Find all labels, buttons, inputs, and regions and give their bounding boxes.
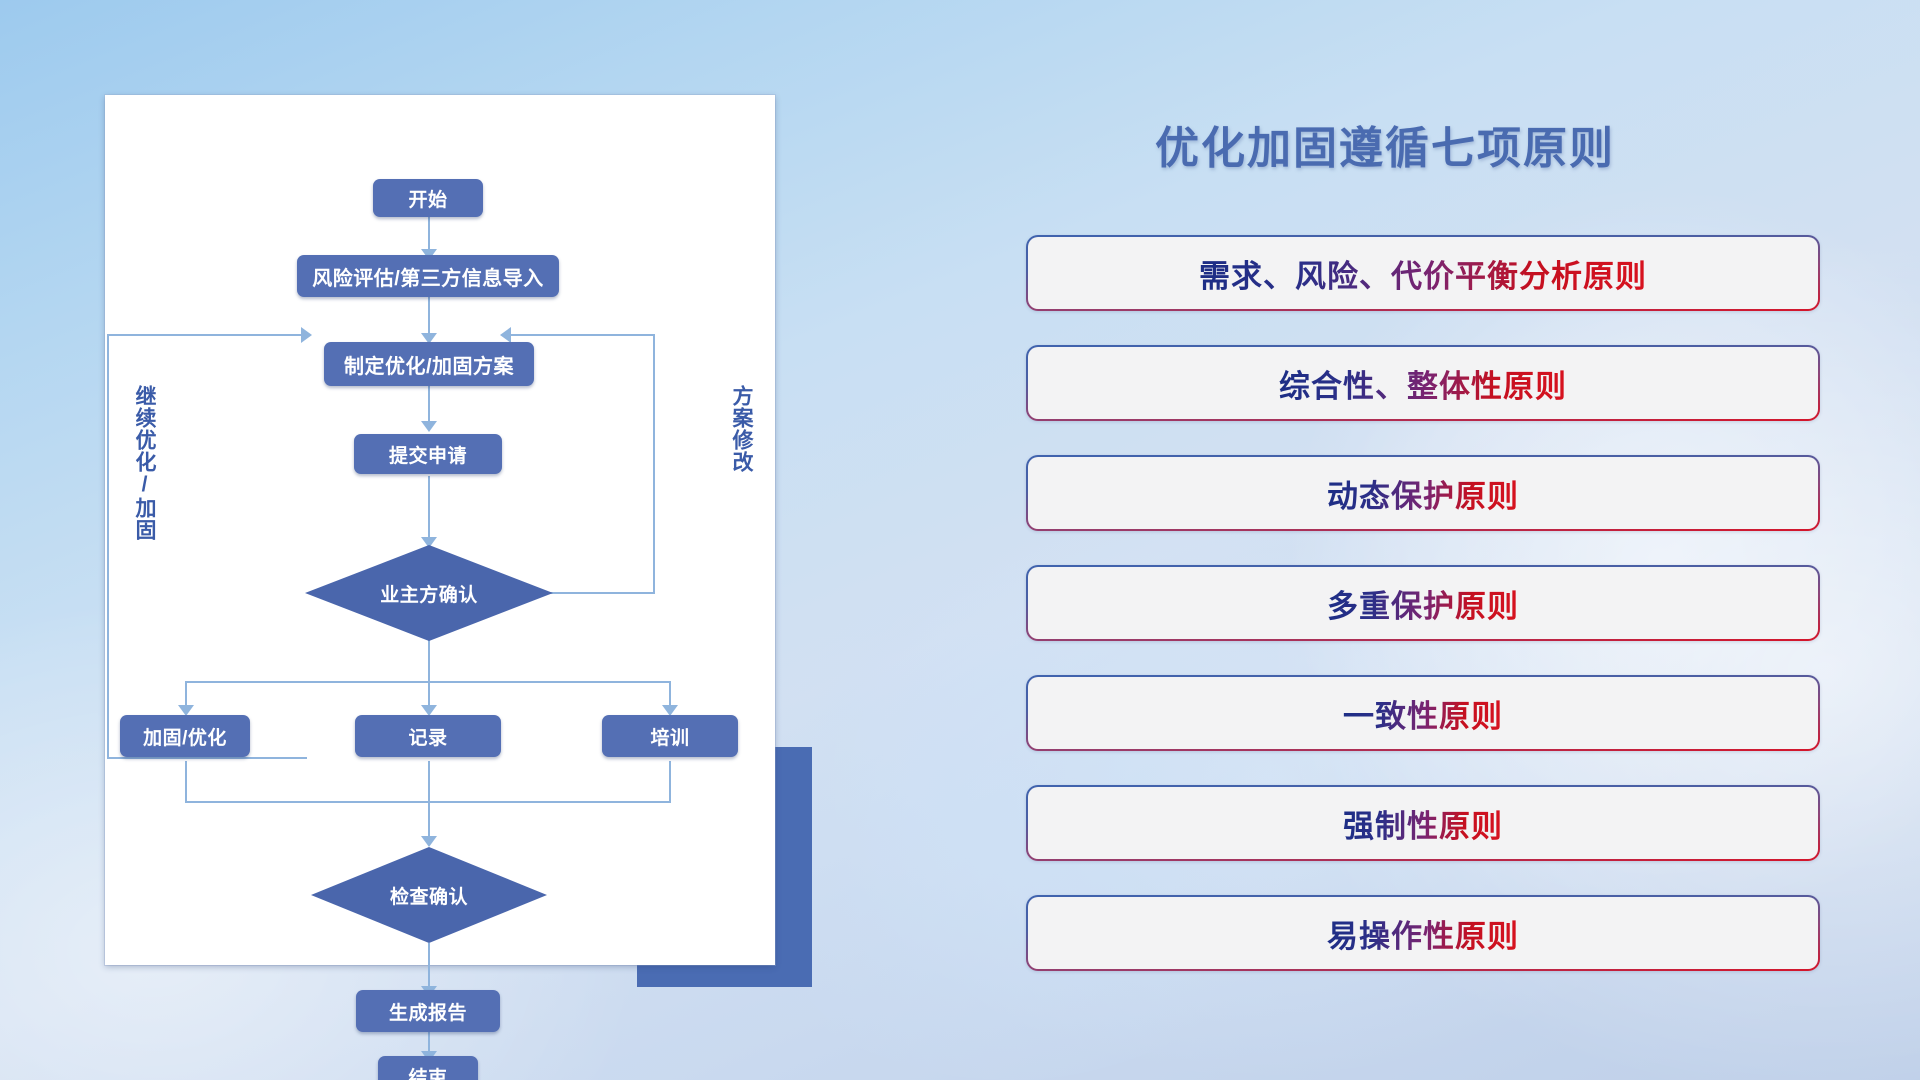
flow-node-make-plan[interactable]: 制定优化/加固方案 bbox=[324, 342, 534, 386]
principle-label: 动态保护原则 bbox=[1327, 471, 1519, 516]
connector-left-loop-bottom bbox=[107, 757, 307, 759]
slide-canvas: 开始 风险评估/第三方信息导入 制定优化/加固方案 提交申请 业主方确认 加固/… bbox=[0, 0, 1920, 1080]
flow-node-record-label: 记录 bbox=[408, 723, 447, 750]
flow-node-risk-assessment-label: 风险评估/第三方信息导入 bbox=[312, 262, 544, 291]
principle-card[interactable]: 动态保护原则 bbox=[1026, 455, 1820, 531]
flow-node-check-confirm-label: 检查确认 bbox=[390, 882, 468, 909]
flow-node-owner-confirm[interactable]: 业主方确认 bbox=[305, 545, 553, 641]
connector-right-loop-top bbox=[510, 334, 655, 336]
principles-list: 需求、风险、代价平衡分析原则 综合性、整体性原则 动态保护原则 多重保护原则 一… bbox=[1026, 235, 1820, 1005]
arrowhead-right-loop-into-plan bbox=[500, 327, 511, 343]
connector-submit-to-owner bbox=[428, 476, 430, 544]
flow-label-plan-revision: 方案修改 bbox=[730, 385, 752, 473]
connector-reinforce-to-merge bbox=[185, 761, 187, 803]
principle-card[interactable]: 需求、风险、代价平衡分析原则 bbox=[1026, 235, 1820, 311]
principle-card[interactable]: 多重保护原则 bbox=[1026, 565, 1820, 641]
principle-label: 需求、风险、代价平衡分析原则 bbox=[1199, 251, 1647, 296]
flow-node-generate-report-label: 生成报告 bbox=[389, 998, 467, 1025]
flow-node-reinforce-label: 加固/优化 bbox=[143, 723, 227, 750]
principle-card[interactable]: 一致性原则 bbox=[1026, 675, 1820, 751]
arrowhead-left-loop-into-plan bbox=[301, 327, 312, 343]
arrowhead-plan-to-submit bbox=[421, 421, 437, 432]
flow-label-continue-optimize: 继续优化/加固 bbox=[133, 385, 155, 541]
connector-training-to-merge bbox=[669, 761, 671, 803]
flowchart-card: 开始 风险评估/第三方信息导入 制定优化/加固方案 提交申请 业主方确认 加固/… bbox=[105, 95, 775, 965]
principle-label: 强制性原则 bbox=[1343, 801, 1503, 846]
flow-node-start[interactable]: 开始 bbox=[373, 179, 483, 217]
flow-node-submit-application-label: 提交申请 bbox=[389, 441, 467, 468]
flow-node-owner-confirm-label: 业主方确认 bbox=[380, 580, 478, 607]
principle-label: 综合性、整体性原则 bbox=[1279, 361, 1567, 406]
flow-node-check-confirm[interactable]: 检查确认 bbox=[311, 847, 547, 943]
flow-node-start-label: 开始 bbox=[408, 185, 447, 212]
flow-node-end[interactable]: 结束 bbox=[378, 1056, 478, 1080]
connector-record-to-merge bbox=[428, 761, 430, 803]
principle-label: 多重保护原则 bbox=[1327, 581, 1519, 626]
connector-right-loop-vertical bbox=[653, 334, 655, 594]
principle-label: 易操作性原则 bbox=[1327, 911, 1519, 956]
flow-node-generate-report[interactable]: 生成报告 bbox=[356, 990, 500, 1032]
connector-left-loop-vertical bbox=[107, 334, 109, 759]
principle-card[interactable]: 综合性、整体性原则 bbox=[1026, 345, 1820, 421]
principle-card[interactable]: 易操作性原则 bbox=[1026, 895, 1820, 971]
flow-node-end-label: 结束 bbox=[408, 1063, 447, 1080]
principle-label: 一致性原则 bbox=[1343, 691, 1503, 736]
connector-owner-to-split bbox=[428, 640, 430, 682]
flow-node-training-label: 培训 bbox=[650, 723, 689, 750]
flow-node-reinforce[interactable]: 加固/优化 bbox=[120, 715, 250, 757]
flow-node-risk-assessment[interactable]: 风险评估/第三方信息导入 bbox=[297, 255, 559, 297]
principle-card[interactable]: 强制性原则 bbox=[1026, 785, 1820, 861]
arrowhead-merge-to-check bbox=[421, 836, 437, 847]
flow-node-make-plan-label: 制定优化/加固方案 bbox=[344, 350, 514, 379]
connector-left-loop-top bbox=[107, 334, 303, 336]
flow-node-training[interactable]: 培训 bbox=[602, 715, 738, 757]
flow-node-record[interactable]: 记录 bbox=[355, 715, 501, 757]
principles-panel-title: 优化加固遵循七项原则 bbox=[1155, 112, 1615, 176]
flow-node-submit-application[interactable]: 提交申请 bbox=[354, 434, 502, 474]
